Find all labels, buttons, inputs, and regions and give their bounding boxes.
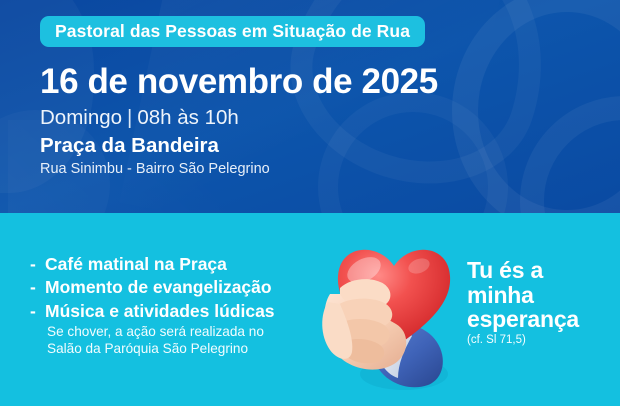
hand-holding-heart-icon xyxy=(318,232,470,392)
slogan-line-3: esperança xyxy=(467,307,619,332)
time-separator: | xyxy=(122,106,137,129)
rain-note-line-2: Salão da Paróquia São Pelegrino xyxy=(47,340,327,357)
list-item: - Música e atividades lúdicas xyxy=(30,300,322,323)
pastoral-name-badge: Pastoral das Pessoas em Situação de Rua xyxy=(40,16,425,47)
background-ring-right-2-icon xyxy=(520,96,620,213)
event-weekday: Domingo xyxy=(40,106,122,129)
slogan-line-2: minha xyxy=(467,283,619,308)
event-address: Rua Sinimbu - Bairro São Pelegrino xyxy=(40,161,438,178)
bullet-dash-icon: - xyxy=(30,300,45,323)
header-content: Pastoral das Pessoas em Situação de Rua … xyxy=(40,16,438,179)
rain-note-line-1: Se chover, a ação será realizada no xyxy=(47,323,327,340)
event-date: 16 de novembro de 2025 xyxy=(40,64,438,99)
slogan-block: Tu és a minha esperança (cf. Sl 71,5) xyxy=(467,258,619,348)
slogan-line-1: Tu és a xyxy=(467,258,619,283)
poster-header-panel: Pastoral das Pessoas em Situação de Rua … xyxy=(0,0,620,213)
event-poster: Pastoral das Pessoas em Situação de Rua … xyxy=(0,0,620,406)
event-time-row: Domingo|08h às 10h xyxy=(40,106,438,130)
bullet-dash-icon: - xyxy=(30,276,45,299)
event-venue: Praça da Bandeira xyxy=(40,134,438,158)
rain-contingency-note: Se chover, a ação será realizada no Salã… xyxy=(47,323,327,358)
list-item-label: Momento de evangelização xyxy=(45,276,272,299)
activities-list: - Café matinal na Praça - Momento de eva… xyxy=(30,253,322,323)
list-item-label: Música e atividades lúdicas xyxy=(45,300,275,323)
event-time: 08h às 10h xyxy=(137,106,238,129)
scripture-reference: (cf. Sl 71,5) xyxy=(467,334,619,348)
background-ring-right-icon xyxy=(452,0,620,213)
list-item: - Café matinal na Praça xyxy=(30,253,322,276)
list-item-label: Café matinal na Praça xyxy=(45,253,227,276)
list-item: - Momento de evangelização xyxy=(30,276,322,299)
bullet-dash-icon: - xyxy=(30,253,45,276)
